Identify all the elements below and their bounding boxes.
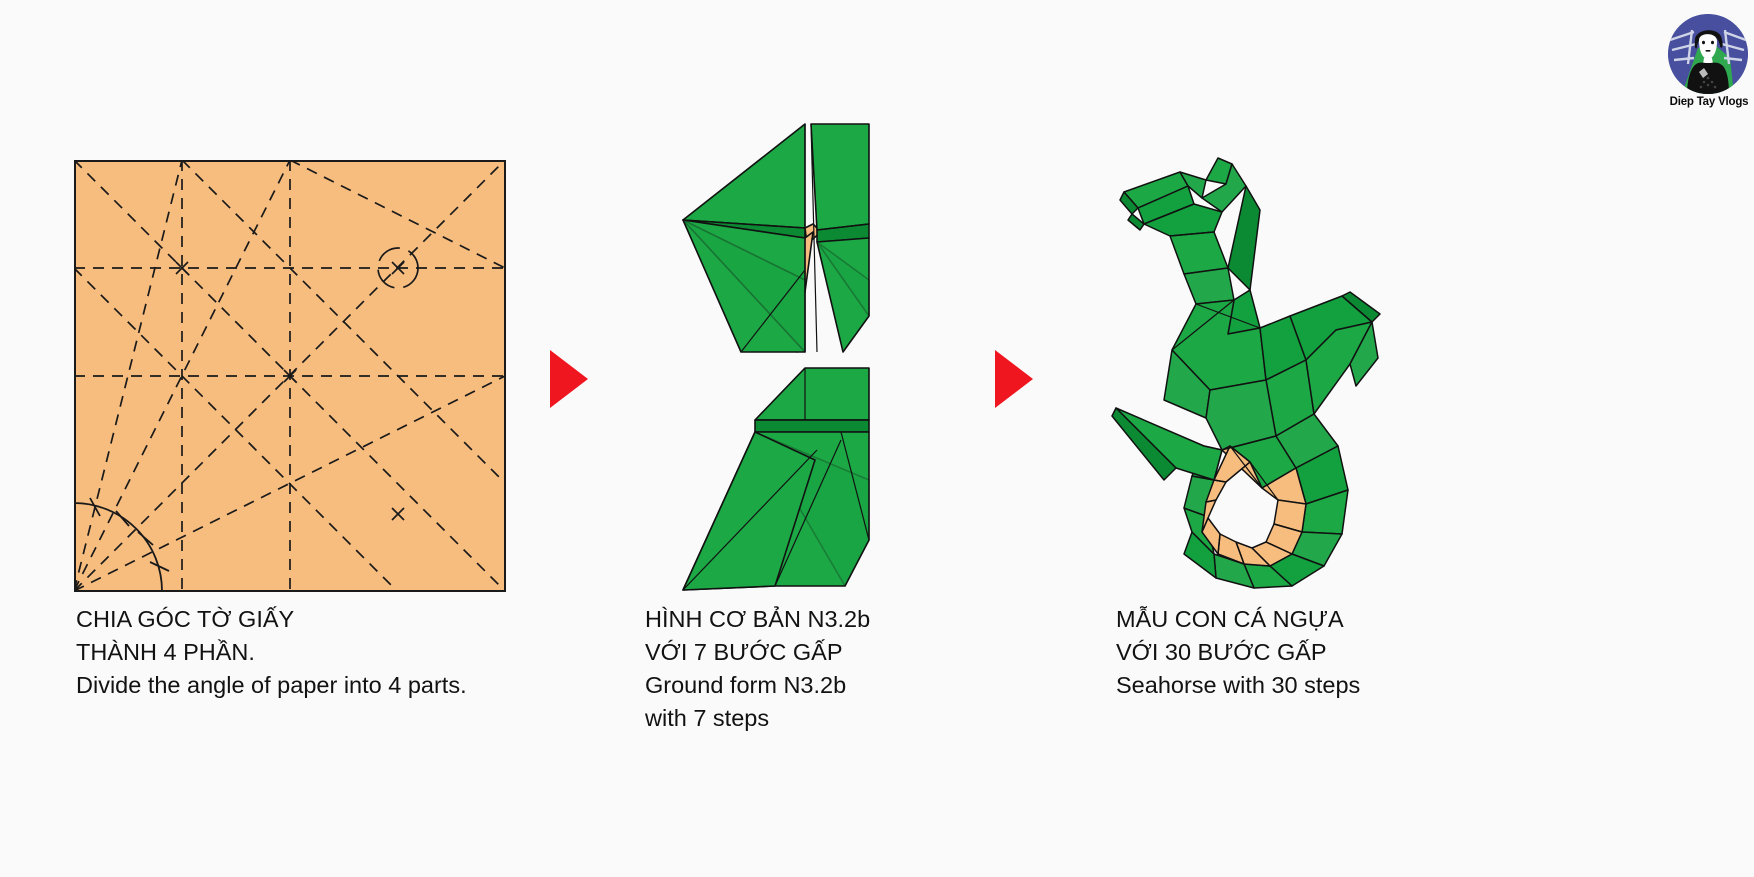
channel-name-label: Diep Tay Vlogs xyxy=(1668,96,1750,108)
caption-crease-pattern: CHIA GÓC TỜ GIẤY THÀNH 4 PHẦN. Divide th… xyxy=(76,603,467,702)
caption-line: THÀNH 4 PHẦN. xyxy=(76,636,467,669)
origami-instruction-sheet: Diep Tay Vlogs xyxy=(0,0,1754,877)
seahorse-model-figure xyxy=(1110,150,1390,590)
right-triangle-arrow-icon xyxy=(993,348,1035,410)
panel-crease-pattern xyxy=(74,160,544,592)
caption-line: MẪU CON CÁ NGỰA xyxy=(1116,603,1360,636)
channel-watermark: Diep Tay Vlogs xyxy=(1668,14,1750,114)
caption-line: Ground form N3.2b xyxy=(645,669,870,702)
caption-line: Divide the angle of paper into 4 parts. xyxy=(76,669,467,702)
caption-seahorse-model: MẪU CON CÁ NGỰA VỚI 30 BƯỚC GẤP Seahorse… xyxy=(1116,603,1360,702)
caption-line: CHIA GÓC TỜ GIẤY xyxy=(76,603,467,636)
step-arrow-1 xyxy=(548,348,590,415)
right-triangle-arrow-icon xyxy=(548,348,590,410)
channel-avatar xyxy=(1668,14,1748,94)
step-arrow-2 xyxy=(993,348,1035,415)
caption-line: VỚI 7 BƯỚC GẤP xyxy=(645,636,870,669)
panel-ground-form xyxy=(645,120,945,595)
ground-form-n32b-figure xyxy=(645,120,915,595)
paper-crease-pattern-diagram xyxy=(74,160,506,592)
caption-line: HÌNH CƠ BẢN N3.2b xyxy=(645,603,870,636)
caption-ground-form: HÌNH CƠ BẢN N3.2b VỚI 7 BƯỚC GẤP Ground … xyxy=(645,603,870,735)
panel-seahorse-model xyxy=(1110,150,1410,590)
caption-line: with 7 steps xyxy=(645,702,870,735)
avatar-artwork-icon xyxy=(1668,14,1748,94)
caption-line: VỚI 30 BƯỚC GẤP xyxy=(1116,636,1360,669)
caption-line: Seahorse with 30 steps xyxy=(1116,669,1360,702)
